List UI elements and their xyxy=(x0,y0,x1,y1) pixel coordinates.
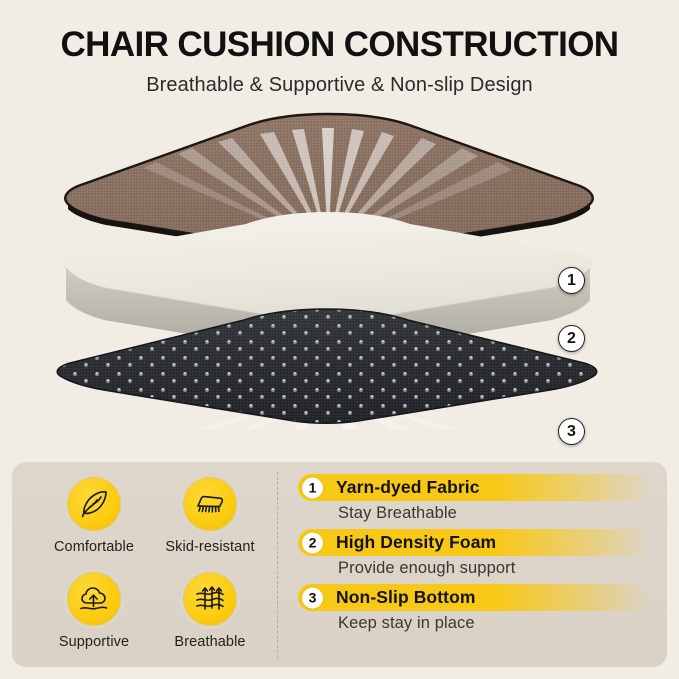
feature-list: 1 Yarn-dyed Fabric Stay Breathable 2 Hig… xyxy=(298,474,650,639)
feature-number: 3 xyxy=(301,586,324,609)
grip-teeth-icon xyxy=(182,476,238,532)
callout-badge-2[interactable]: 2 xyxy=(558,325,585,352)
benefit-comfortable[interactable]: Comfortable xyxy=(36,470,152,565)
benefit-breathable[interactable]: Breathable xyxy=(152,565,268,660)
feather-icon xyxy=(66,476,122,532)
exploded-cushion-diagram: 1 2 3 xyxy=(0,100,679,460)
benefit-label: Skid-resistant xyxy=(165,539,254,555)
benefit-label: Comfortable xyxy=(54,539,134,555)
header: CHAIR CUSHION CONSTRUCTION Breathable & … xyxy=(0,0,679,98)
feature-item-3[interactable]: 3 Non-Slip Bottom Keep stay in place xyxy=(298,584,650,633)
page-subtitle: Breathable & Supportive & Non-slip Desig… xyxy=(0,66,679,98)
infographic-canvas: CHAIR CUSHION CONSTRUCTION Breathable & … xyxy=(0,0,679,679)
benefit-skid-resistant[interactable]: Skid-resistant xyxy=(152,470,268,565)
feature-subtitle: Provide enough support xyxy=(298,559,650,578)
feature-pill[interactable]: 3 Non-Slip Bottom xyxy=(298,584,650,611)
feature-title: Non-Slip Bottom xyxy=(298,587,476,608)
cloud-up-arrow-icon xyxy=(66,571,122,627)
feature-item-1[interactable]: 1 Yarn-dyed Fabric Stay Breathable xyxy=(298,474,650,523)
feature-title: High Density Foam xyxy=(298,532,496,553)
benefit-label: Breathable xyxy=(174,634,245,650)
page-title: CHAIR CUSHION CONSTRUCTION xyxy=(0,0,679,66)
benefit-label: Supportive xyxy=(59,634,129,650)
panel-divider xyxy=(277,472,278,658)
feature-pill[interactable]: 2 High Density Foam xyxy=(298,529,650,556)
feature-subtitle: Keep stay in place xyxy=(298,614,650,633)
feature-pill[interactable]: 1 Yarn-dyed Fabric xyxy=(298,474,650,501)
mesh-airflow-icon xyxy=(182,571,238,627)
callout-badge-3[interactable]: 3 xyxy=(558,418,585,445)
benefit-supportive[interactable]: Supportive xyxy=(36,565,152,660)
feature-panel: Comfortable Skid-res xyxy=(12,462,667,667)
callout-badge-1[interactable]: 1 xyxy=(558,267,585,294)
benefit-icon-grid: Comfortable Skid-res xyxy=(36,470,268,660)
grip-dots xyxy=(48,305,608,430)
non-slip-bottom-layer xyxy=(48,305,608,430)
feature-subtitle: Stay Breathable xyxy=(298,504,650,523)
feature-number: 2 xyxy=(301,531,324,554)
feature-number: 1 xyxy=(301,476,324,499)
feature-title: Yarn-dyed Fabric xyxy=(298,477,480,498)
feature-item-2[interactable]: 2 High Density Foam Provide enough suppo… xyxy=(298,529,650,578)
